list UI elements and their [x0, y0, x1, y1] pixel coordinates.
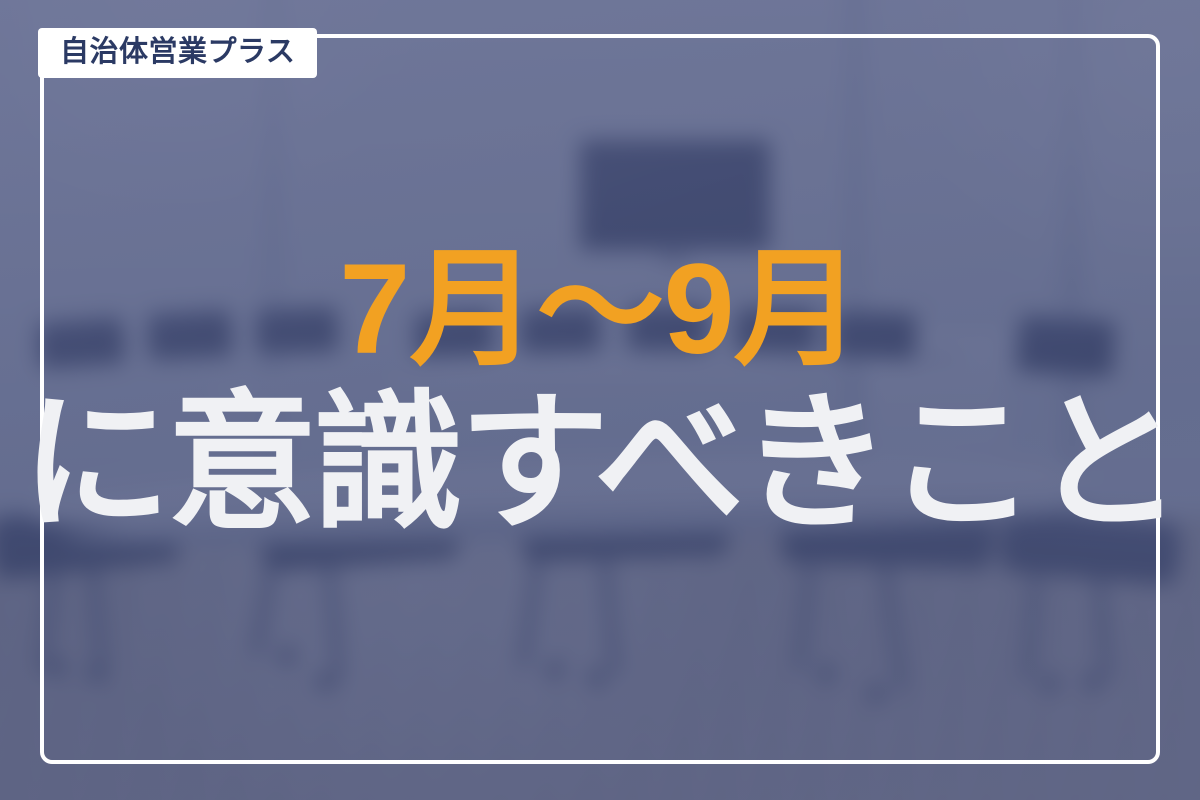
brand-badge: 自治体営業プラス [38, 28, 317, 78]
headline-main: に意識すべきこと [0, 385, 1200, 543]
promo-banner: 自治体営業プラス 7月〜9月 に意識すべきこと [0, 0, 1200, 800]
headline-block: 7月〜9月 に意識すべきこと [0, 238, 1200, 543]
headline-period: 7月〜9月 [0, 238, 1200, 381]
